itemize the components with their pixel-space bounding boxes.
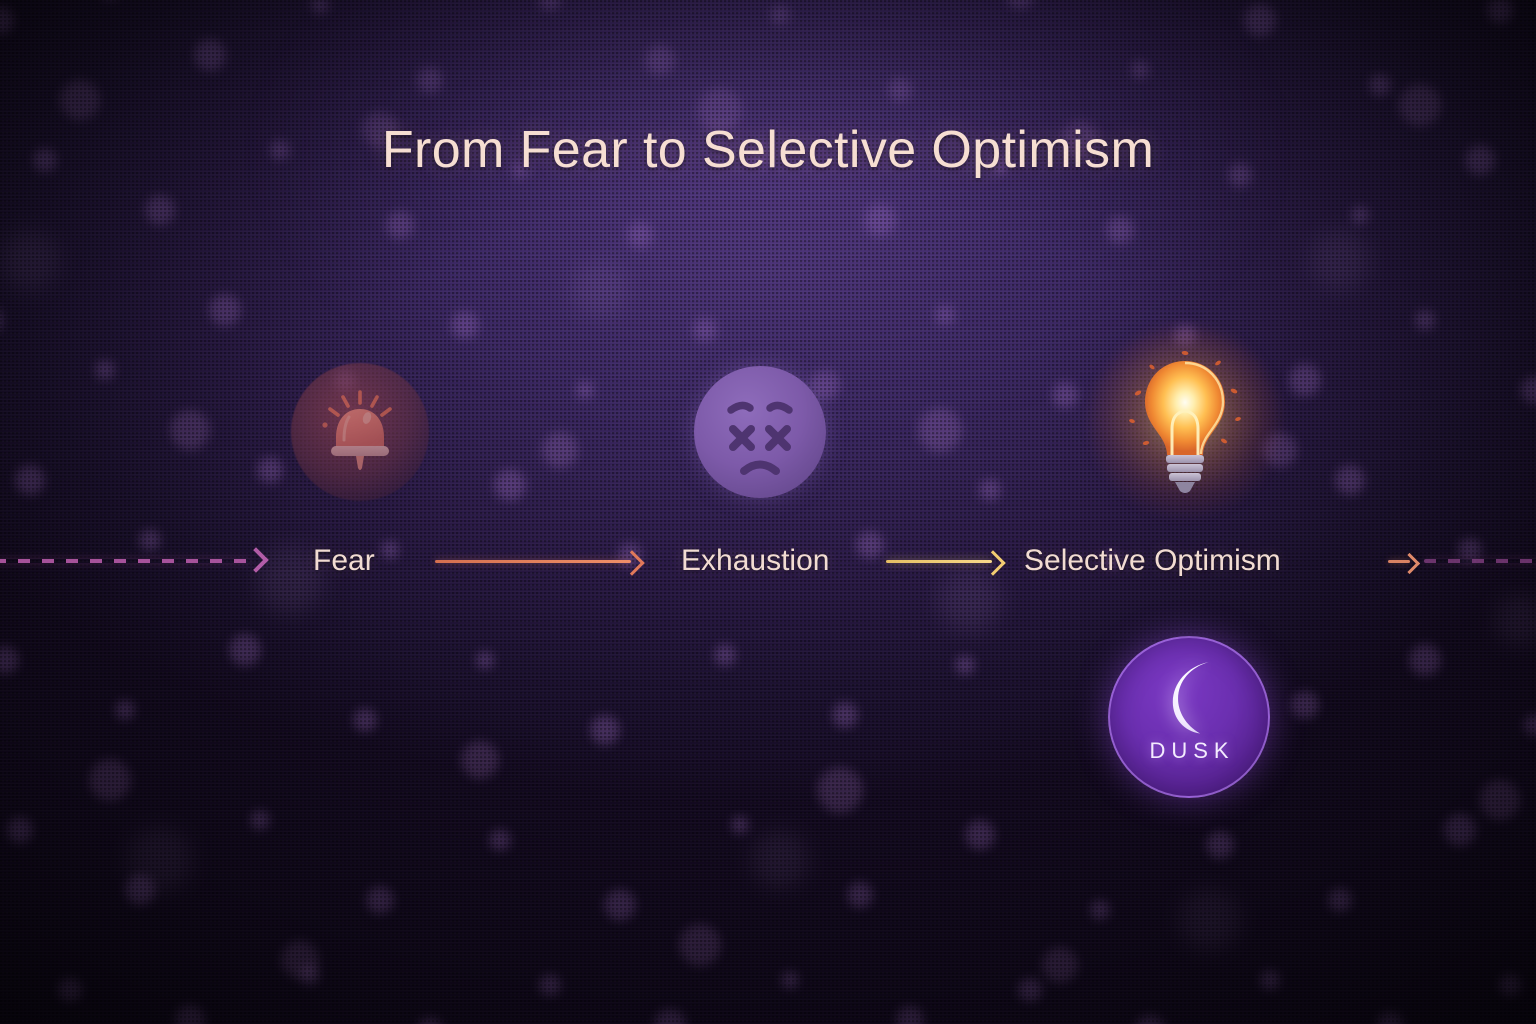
exhausted-face-icon (700, 372, 820, 492)
timeline-left-arrowhead-icon (243, 547, 268, 572)
arrow-head (980, 550, 1005, 575)
flow-rail: Fear Exhaustion Selective Optimism (0, 535, 1536, 587)
flow-arrow-exhaustion-to-optimism-icon (886, 550, 1001, 572)
fear-icon-disc (291, 363, 429, 501)
arrow-shaft (886, 560, 992, 563)
arrow-head (619, 550, 644, 575)
dusk-badge-label: DUSK (1143, 738, 1234, 764)
step-icon-fear (290, 362, 430, 502)
flow-label-selective-optimism: Selective Optimism (1024, 546, 1281, 576)
flow-label-exhaustion: Exhaustion (681, 546, 829, 576)
flow-arrow-continues-icon (1388, 550, 1420, 572)
step-icon-selective-optimism (1115, 352, 1255, 492)
crescent-moon-icon (1150, 660, 1228, 732)
flow-arrow-fear-to-exhaustion-icon (435, 550, 640, 572)
arrow-head (1399, 553, 1420, 574)
lightbulb-icon (1122, 347, 1248, 497)
flow-label-fear: Fear (313, 546, 375, 576)
timeline-dashes-left (0, 559, 250, 563)
dusk-badge: DUSK (1108, 636, 1270, 798)
slide-title: From Fear to Selective Optimism (0, 120, 1536, 180)
step-icon-exhaustion (690, 362, 830, 502)
arrow-shaft (435, 560, 631, 563)
slide-canvas: From Fear to Selective Optimism (0, 0, 1536, 1024)
timeline-dashes-right (1424, 559, 1536, 563)
